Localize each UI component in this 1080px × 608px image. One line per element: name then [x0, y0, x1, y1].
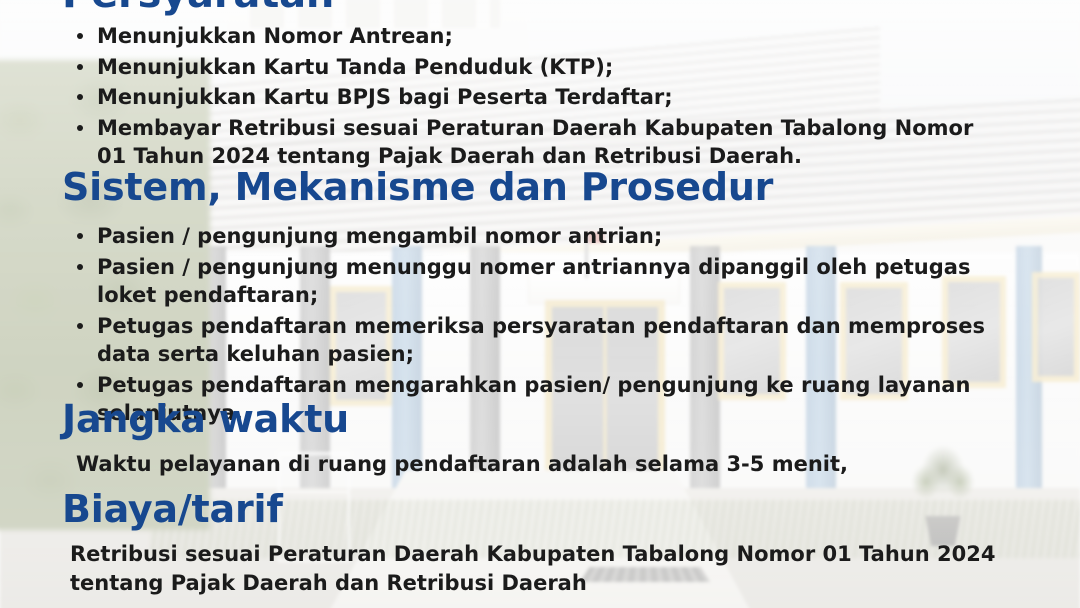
biaya-tarif-paragraph: Retribusi sesuai Peraturan Daerah Kabupa…	[70, 540, 1020, 598]
list-item: Membayar Retribusi sesuai Peraturan Daer…	[75, 114, 975, 171]
slide-canvas: Persyaratan Menunjukkan Nomor Antrean; M…	[0, 0, 1080, 608]
list-item: Menunjukkan Kartu Tanda Penduduk (KTP);	[75, 53, 975, 82]
jangka-waktu-paragraph: Waktu pelayanan di ruang pendaftaran ada…	[76, 450, 976, 479]
section-heading-jangka-waktu: Jangka waktu	[62, 400, 349, 438]
list-item: Menunjukkan Kartu BPJS bagi Peserta Terd…	[75, 83, 975, 112]
section-heading-biaya-tarif: Biaya/tarif	[62, 490, 283, 528]
slide-content: Persyaratan Menunjukkan Nomor Antrean; M…	[0, 0, 1080, 608]
section-heading-persyaratan: Persyaratan	[62, 0, 334, 14]
list-item: Pasien / pengunjung menunggu nomer antri…	[75, 253, 995, 310]
list-item: Pasien / pengunjung mengambil nomor antr…	[75, 222, 995, 251]
list-item: Petugas pendaftaran memeriksa persyarata…	[75, 312, 995, 369]
section-heading-sistem-mekanisme-prosedur: Sistem, Mekanisme dan Prosedur	[62, 168, 773, 206]
list-item: Menunjukkan Nomor Antrean;	[75, 22, 975, 51]
persyaratan-bullet-list: Menunjukkan Nomor Antrean; Menunjukkan K…	[75, 22, 975, 173]
